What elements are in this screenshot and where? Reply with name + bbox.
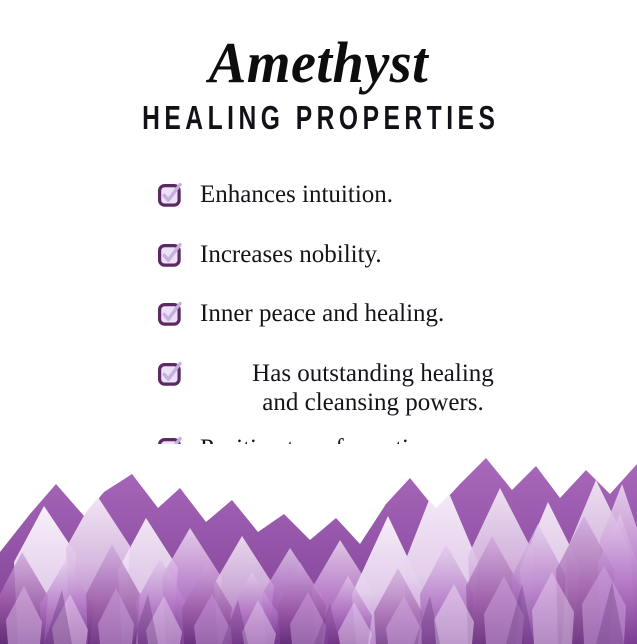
checkbox-checked-icon — [158, 243, 182, 267]
amethyst-crystal-cluster-photo — [0, 444, 637, 644]
list-item-label: Has outstanding healing and cleansing po… — [182, 359, 578, 418]
page-title: Amethyst — [10, 34, 628, 92]
list-item-label: Increases nobility. — [182, 240, 578, 270]
checkbox-checked-icon — [158, 362, 182, 386]
list-item-label: Inner peace and healing. — [182, 299, 578, 329]
poster-header: Amethyst HEALING PROPERTIES — [0, 34, 637, 134]
checkbox-checked-icon — [158, 183, 182, 207]
list-item: Has outstanding healing and cleansing po… — [158, 359, 578, 418]
list-item: Enhances intuition. — [158, 180, 578, 210]
amethyst-healing-properties-poster: Amethyst HEALING PROPERTIES Enhances int… — [0, 0, 637, 644]
page-subtitle: HEALING PROPERTIES — [57, 102, 579, 136]
list-item-label: Enhances intuition. — [182, 180, 578, 210]
list-item: Increases nobility. — [158, 240, 578, 270]
checkbox-checked-icon — [158, 302, 182, 326]
list-item: Inner peace and healing. — [158, 299, 578, 329]
